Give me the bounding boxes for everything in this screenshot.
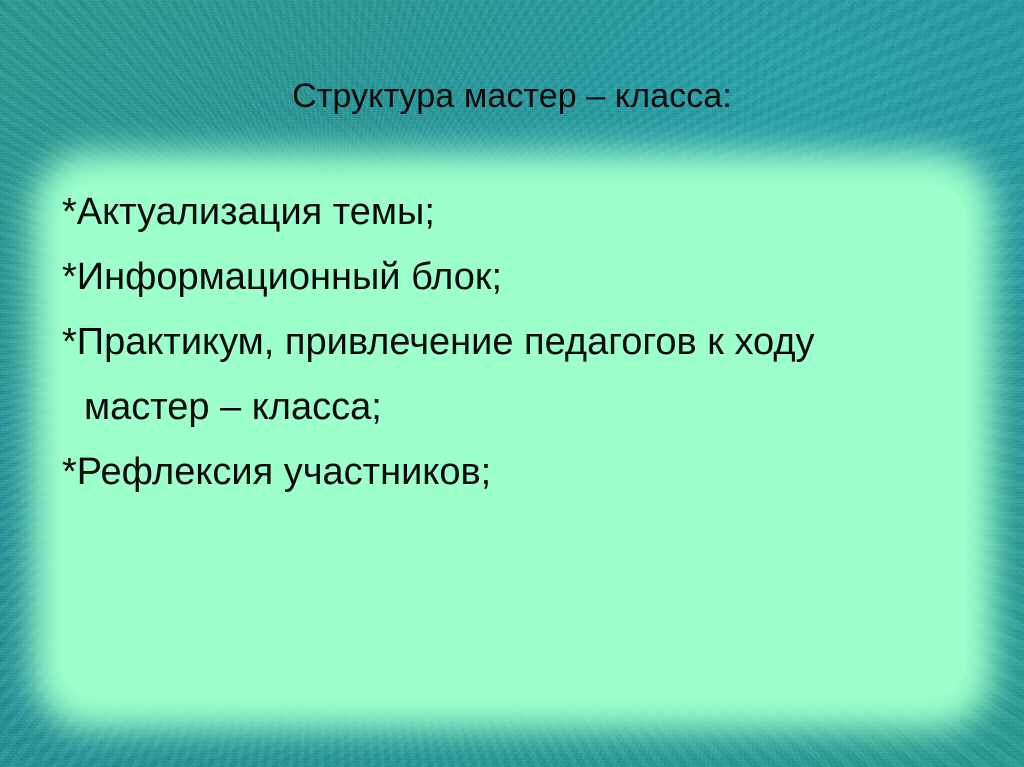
bullet-item-informacionnyy: *Информационный блок; <box>62 245 982 310</box>
presentation-slide: Структура мастер – класса: *Актуализация… <box>0 0 1024 767</box>
bullet-item-praktikum-cont: мастер – класса; <box>62 375 982 440</box>
bullet-item-refleksiya: *Рефлексия участников; <box>62 440 982 505</box>
slide-title: Структура мастер – класса: <box>0 78 1024 115</box>
bullet-item-aktualizaciya: *Актуализация темы; <box>62 180 982 245</box>
bullet-item-praktikum: *Практикум, привлечение педагогов к ходу <box>62 310 982 375</box>
slide-bullet-list: *Актуализация темы; *Информационный блок… <box>62 180 982 505</box>
